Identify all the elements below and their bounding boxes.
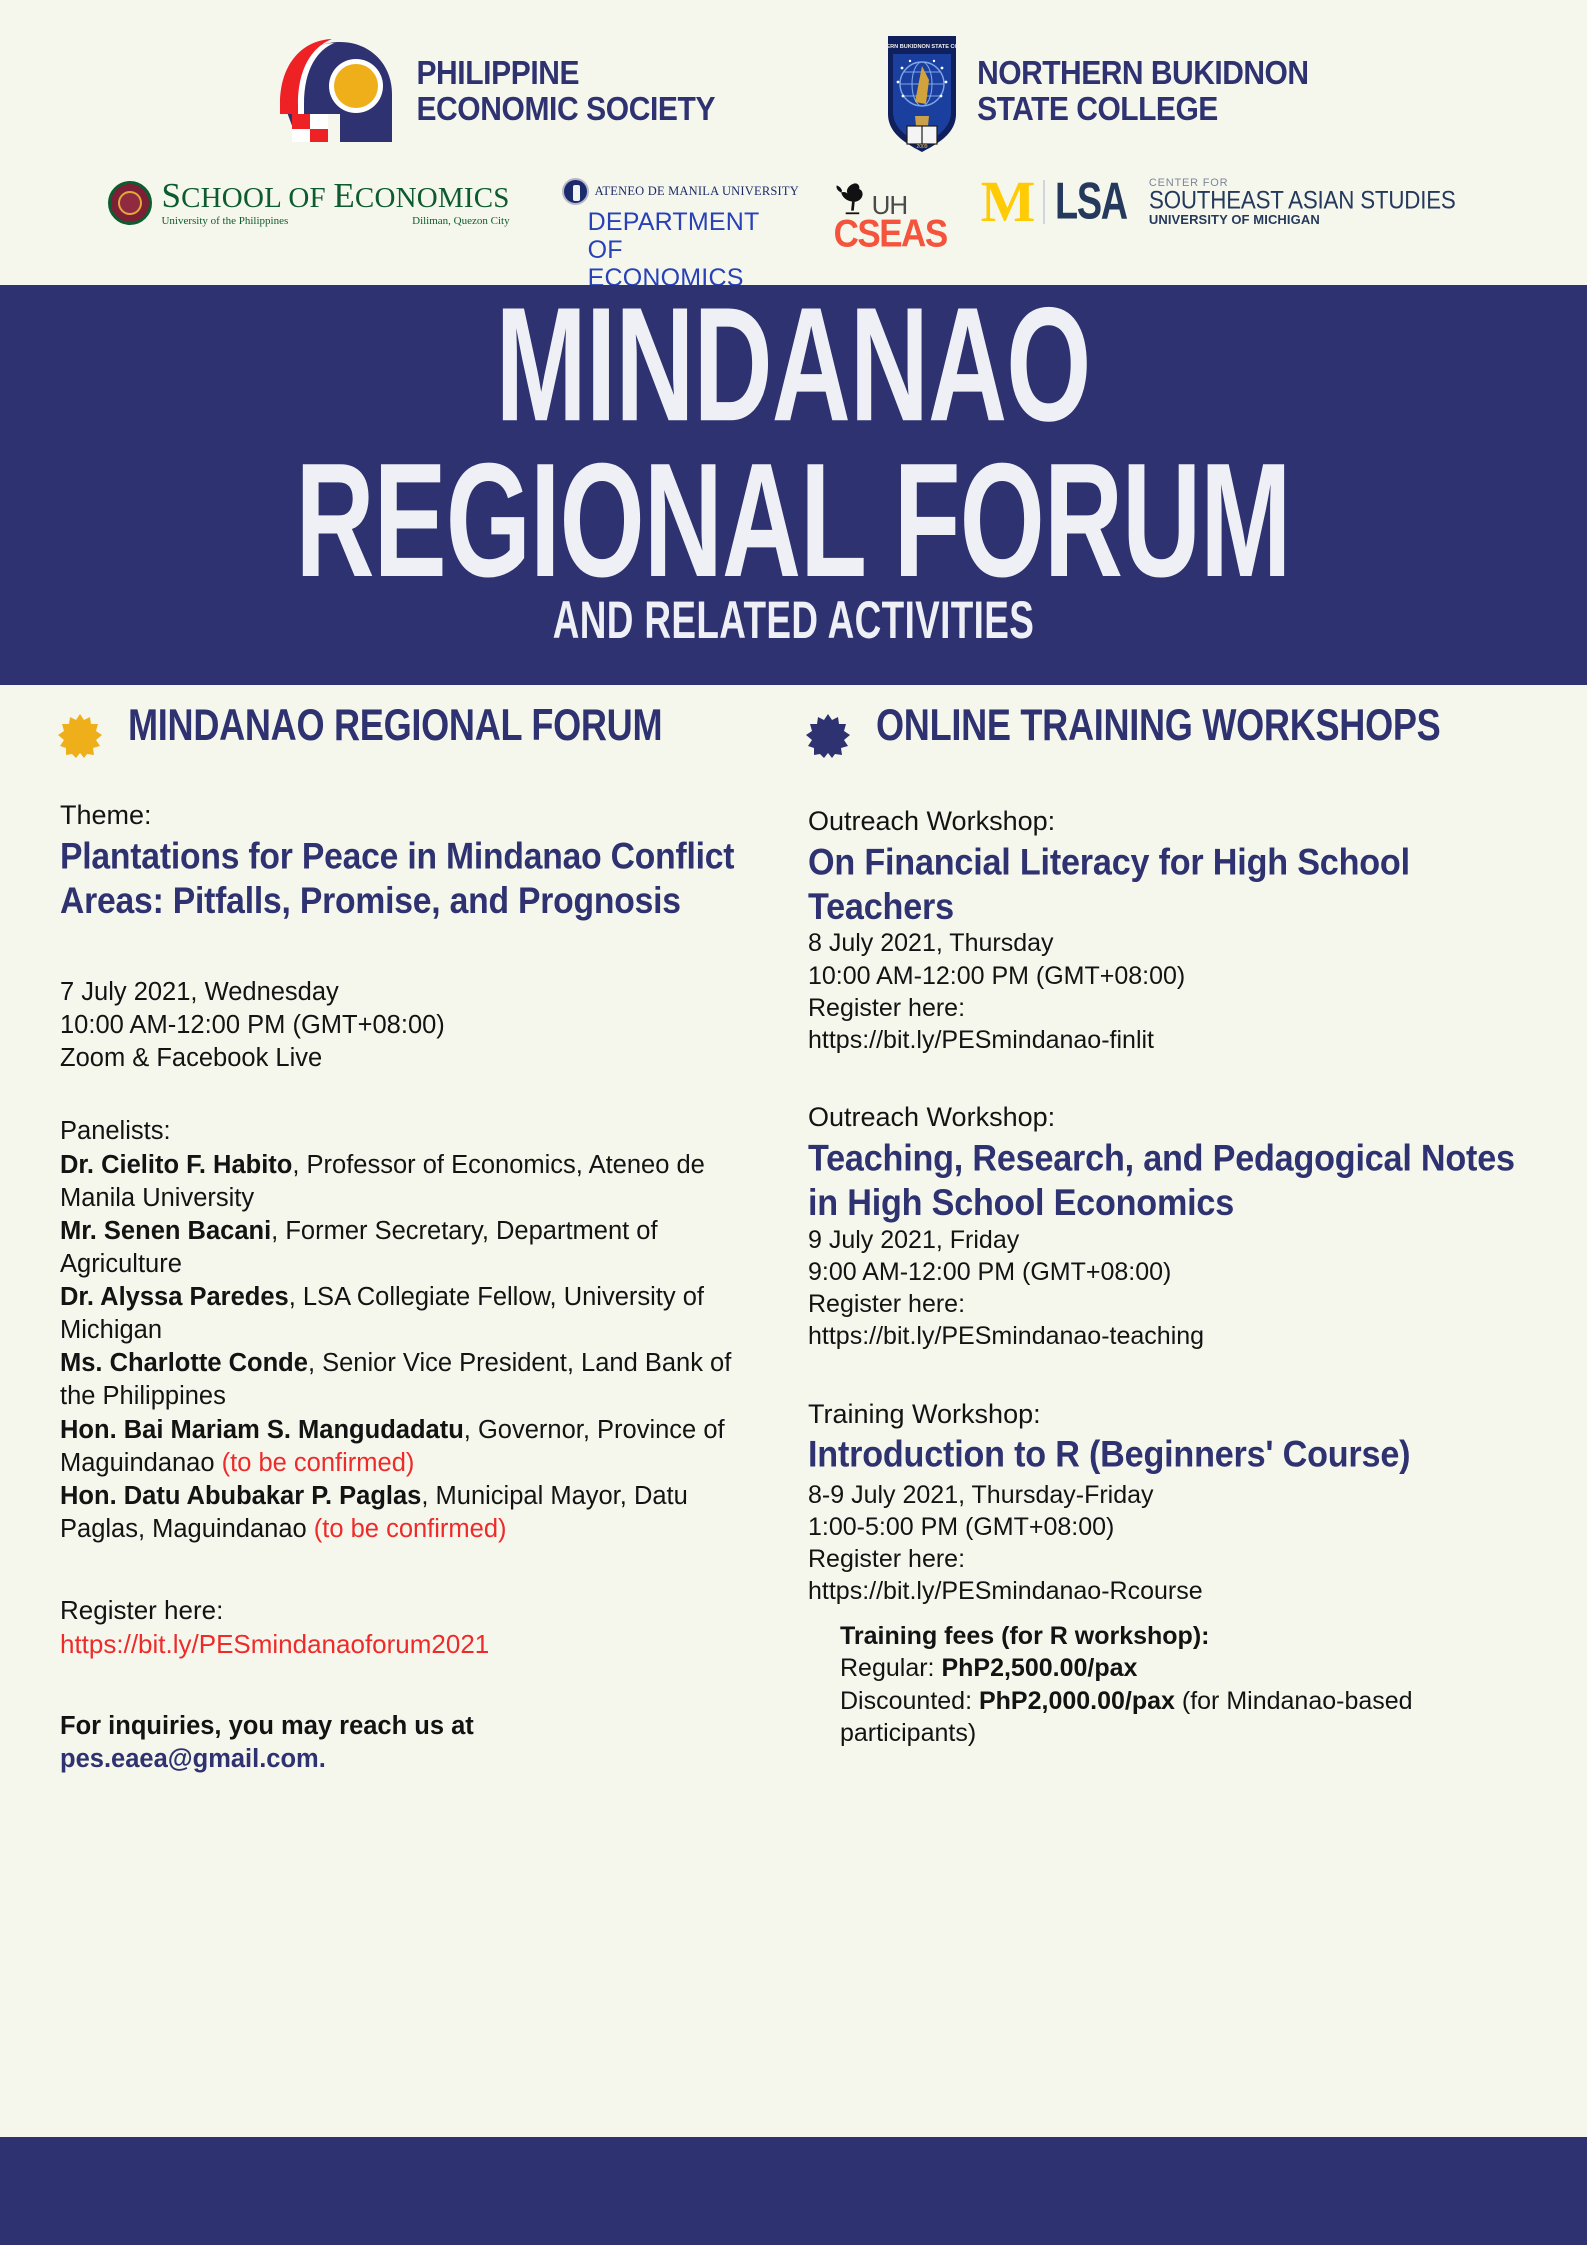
panelist-name: Hon. Bai Mariam S. Mangudadatu <box>60 1416 464 1444</box>
nbsc-logo: NORTHERN BUKIDNON STATE COLLEGE 2009 NOR… <box>885 30 1309 154</box>
pes-wordmark-line2: ECONOMIC SOCIETY <box>416 92 715 128</box>
panelists-list: Dr. Cielito F. Habito, Professor of Econ… <box>60 1149 770 1547</box>
nbsc-wordmark-line2: STATE COLLEGE <box>977 92 1309 128</box>
ateneo-dept-line1: DEPARTMENT <box>588 208 782 236</box>
up-seal-icon <box>108 181 152 225</box>
ateneo-top-row: ATENEO DE MANILA UNIVERSITY <box>562 178 782 205</box>
panelist-role: , Municipal Mayor, <box>421 1482 634 1510</box>
panelist-confirmation-note: (to be confirmed) <box>307 1515 507 1543</box>
nbsc-wordmark-line1: NORTHERN BUKIDNON <box>977 56 1309 92</box>
fees-regular-amount: PhP2,500.00/pax <box>941 1654 1137 1682</box>
training-fees-block: Training fees (for R workshop): Regular:… <box>840 1620 1547 1750</box>
poster-subtitle: AND RELATED ACTIVITIES <box>553 590 1034 650</box>
workshop-register-label: Register here: <box>808 992 1547 1024</box>
workshop-register-label: Register here: <box>808 1543 1547 1575</box>
forum-theme-block: Theme: Plantations for Peace in Mindanao… <box>60 800 770 918</box>
pes-wordmark-line1: PHILIPPINE <box>416 56 715 92</box>
starburst-navy-icon <box>806 714 850 758</box>
ateneo-university-name: ATENEO DE MANILA UNIVERSITY <box>595 184 799 199</box>
footer-bar <box>0 2137 1587 2245</box>
umich-divider <box>1043 180 1045 224</box>
inquiries-email[interactable]: pes.eaea@gmail.com <box>60 1745 319 1773</box>
umich-lsa-wordmark: LSA <box>1055 181 1127 224</box>
michigan-block-m-icon: M <box>981 179 1034 225</box>
forum-register-block: Register here: https://bit.ly/PESmindana… <box>60 1594 770 1662</box>
panelist-role: , Professor of Economics, <box>292 1151 588 1179</box>
inquiries-period: . <box>319 1745 326 1773</box>
pes-logo: PHILIPPINE ECONOMIC SOCIETY <box>278 38 715 146</box>
panelist-confirmation-note: (to be confirmed) <box>215 1449 415 1477</box>
panelist-name: Mr. Senen Bacani <box>60 1217 271 1245</box>
title-banner: MINDANAO REGIONAL FORUM AND RELATED ACTI… <box>0 285 1587 685</box>
nbsc-seal-year: 2009 <box>917 144 928 150</box>
umich-university-name: UNIVERSITY OF MICHIGAN <box>1149 213 1479 226</box>
workshop-kicker: Outreach Workshop: <box>808 1100 1547 1135</box>
panelist-entry: Hon. Bai Mariam S. Mangudadatu, Governor… <box>60 1414 770 1480</box>
panelist-entry: Dr. Cielito F. Habito, Professor of Econ… <box>60 1149 770 1215</box>
workshop-item: Outreach Workshop:On Financial Literacy … <box>808 804 1547 1056</box>
workshop-time: 10:00 AM-12:00 PM (GMT+08:00) <box>808 960 1547 992</box>
upse-university: University of the Philippines <box>161 216 288 227</box>
workshop-kicker: Outreach Workshop: <box>808 804 1547 839</box>
workshops-section-header: ONLINE TRAINING WORKSHOPS <box>806 700 1547 758</box>
forum-section-header: MINDANAO REGIONAL FORUM <box>58 700 770 758</box>
content-columns: MINDANAO REGIONAL FORUM Theme: Plantatio… <box>0 700 1587 1776</box>
training-fees-discounted: Discounted: PhP2,000.00/pax (for Mindana… <box>840 1685 1547 1750</box>
workshop-title: Introduction to R (Beginners' Course) <box>808 1433 1540 1478</box>
panelist-entry: Dr. Alyssa Paredes, LSA Collegiate Fello… <box>60 1281 770 1347</box>
workshop-item: Training Workshop:Introduction to R (Beg… <box>808 1397 1547 1608</box>
workshop-date: 8-9 July 2021, Thursday-Friday <box>808 1479 1547 1511</box>
panelist-role: , Former Secretary, <box>271 1217 496 1245</box>
fees-discounted-label: Discounted: <box>840 1687 979 1715</box>
panelist-name: Ms. Charlotte Conde <box>60 1349 308 1377</box>
panelist-entry: Ms. Charlotte Conde, Senior Vice Preside… <box>60 1347 770 1413</box>
pes-logo-wordmark: PHILIPPINE ECONOMIC SOCIETY <box>416 56 715 127</box>
inquiries-line: pes.eaea@gmail.com. <box>60 1743 770 1776</box>
inquiries-label: For inquiries, you may reach us at <box>60 1710 770 1743</box>
panelist-entry: Mr. Senen Bacani, Former Secretary, Depa… <box>60 1215 770 1281</box>
workshop-title: Teaching, Research, and Pedagogical Note… <box>808 1137 1540 1226</box>
poster-title-line2: REGIONAL FORUM <box>296 445 1291 601</box>
workshop-register-label: Register here: <box>808 1288 1547 1320</box>
panelist-role: , Senior Vice President, <box>308 1349 581 1377</box>
cseas-top-row: UH <box>834 178 929 216</box>
forum-register-label: Register here: <box>60 1594 770 1628</box>
forum-register-link[interactable]: https://bit.ly/PESmindanaoforum2021 <box>60 1628 770 1662</box>
forum-time: 10:00 AM-12:00 PM (GMT+08:00) <box>60 1009 770 1042</box>
workshop-time: 1:00-5:00 PM (GMT+08:00) <box>808 1511 1547 1543</box>
workshop-date: 9 July 2021, Friday <box>808 1224 1547 1256</box>
nbsc-seal-text: NORTHERN BUKIDNON STATE COLLEGE <box>885 44 959 50</box>
panelist-name: Dr. Cielito F. Habito <box>60 1151 292 1179</box>
panelists-block: Panelists: Dr. Cielito F. Habito, Profes… <box>60 1115 770 1546</box>
workshops-section-title: ONLINE TRAINING WORKSHOPS <box>876 700 1440 752</box>
poster-canvas: PHILIPPINE ECONOMIC SOCIETY <box>0 0 1587 2245</box>
workshop-title: On Financial Literacy for High School Te… <box>808 841 1540 930</box>
cseas-logo: UH CSEAS <box>834 178 929 249</box>
fees-discounted-amount: PhP2,000.00/pax <box>979 1687 1175 1715</box>
workshops-column: ONLINE TRAINING WORKSHOPS Outreach Works… <box>790 700 1587 1750</box>
inquiries-block: For inquiries, you may reach us at pes.e… <box>60 1710 770 1776</box>
pes-head-logo-icon <box>278 38 400 146</box>
panelist-entry: Hon. Datu Abubakar P. Paglas, Municipal … <box>60 1480 770 1546</box>
logo-bar: PHILIPPINE ECONOMIC SOCIETY <box>0 0 1587 285</box>
starburst-yellow-icon <box>58 714 102 758</box>
panelist-role: , LSA Collegiate Fellow, <box>289 1283 564 1311</box>
workshop-time: 9:00 AM-12:00 PM (GMT+08:00) <box>808 1256 1547 1288</box>
training-fees-heading: Training fees (for R workshop): <box>840 1620 1547 1653</box>
nbsc-logo-wordmark: NORTHERN BUKIDNON STATE COLLEGE <box>977 56 1309 127</box>
upse-title: SCHOOL OF ECONOMICS <box>161 178 509 213</box>
upse-location: Diliman, Quezon City <box>412 216 509 227</box>
panelists-label: Panelists: <box>60 1115 770 1148</box>
nbsc-shield-logo-icon: NORTHERN BUKIDNON STATE COLLEGE 2009 <box>885 30 959 154</box>
upse-subline: University of the Philippines Diliman, Q… <box>161 216 509 227</box>
poster-title-line1: MINDANAO <box>296 289 1291 445</box>
forum-date: 7 July 2021, Wednesday <box>60 976 770 1009</box>
uh-rooster-icon <box>834 180 870 216</box>
panelist-name: Dr. Alyssa Paredes <box>60 1283 289 1311</box>
workshop-register-link[interactable]: https://bit.ly/PESmindanao-Rcourse <box>808 1575 1547 1607</box>
forum-column: MINDANAO REGIONAL FORUM Theme: Plantatio… <box>0 700 790 1776</box>
training-fees-regular: Regular: PhP2,500.00/pax <box>840 1652 1547 1685</box>
upse-wordmark: SCHOOL OF ECONOMICS University of the Ph… <box>161 178 509 227</box>
fees-regular-label: Regular: <box>840 1654 941 1682</box>
theme-text: Plantations for Peace in Mindanao Confli… <box>60 835 763 925</box>
forum-platform: Zoom & Facebook Live <box>60 1042 770 1075</box>
theme-label: Theme: <box>60 800 770 831</box>
umich-lsa-logo: M LSA CENTER FOR SOUTHEAST ASIAN STUDIES… <box>981 178 1479 226</box>
workshop-item: Outreach Workshop:Teaching, Research, an… <box>808 1100 1547 1352</box>
panelist-role: , Governor, <box>464 1416 597 1444</box>
workshop-register-link[interactable]: https://bit.ly/PESmindanao-teaching <box>808 1320 1547 1352</box>
workshop-kicker: Training Workshop: <box>808 1397 1547 1432</box>
umich-center-name: SOUTHEAST ASIAN STUDIES <box>1149 188 1456 213</box>
workshop-register-link[interactable]: https://bit.ly/PESmindanao-finlit <box>808 1024 1547 1056</box>
upse-logo: SCHOOL OF ECONOMICS University of the Ph… <box>108 178 509 227</box>
panelist-name: Hon. Datu Abubakar P. Paglas <box>60 1482 421 1510</box>
ateneo-seal-icon <box>562 178 589 205</box>
cseas-wordmark: CSEAS <box>834 217 929 252</box>
logo-row-primary: PHILIPPINE ECONOMIC SOCIETY <box>0 30 1587 154</box>
workshop-date: 8 July 2021, Thursday <box>808 927 1547 959</box>
forum-section-title: MINDANAO REGIONAL FORUM <box>128 700 662 752</box>
forum-schedule-block: 7 July 2021, Wednesday 10:00 AM-12:00 PM… <box>60 976 770 1075</box>
umich-center-wordmark: CENTER FOR SOUTHEAST ASIAN STUDIES UNIVE… <box>1149 178 1479 226</box>
poster-title: MINDANAO REGIONAL FORUM <box>296 289 1291 601</box>
workshops-list: Outreach Workshop:On Financial Literacy … <box>806 804 1547 1608</box>
